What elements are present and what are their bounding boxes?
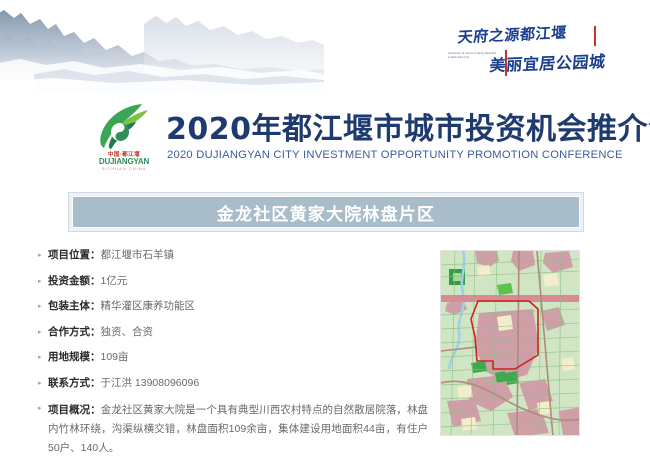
detail-row-packaging-entity: ▸ 包装主体：精华灌区康养功能区	[38, 299, 428, 314]
triangle-bullet-icon: ▸	[38, 376, 48, 387]
triangle-bullet-icon: ▸	[38, 299, 48, 310]
detail-row-land-scale: ▸ 用地规模：109亩	[38, 350, 428, 365]
detail-body: 合作方式：独资、合资	[48, 325, 428, 340]
slide-root: 天府之源都江堰 Hometown of nature of family Bea…	[0, 0, 650, 460]
slogan-red-rule-top	[594, 26, 596, 46]
detail-label: 投资金额：	[48, 275, 101, 287]
detail-label: 联系方式：	[48, 377, 101, 389]
project-details-list: ▸ 项目位置：都江堰市石羊镇 ▸ 投资金额：1亿元 ▸ 包装主体：精华灌区康养功…	[38, 248, 428, 458]
detail-label: 用地规模：	[48, 351, 101, 363]
detail-row-investment: ▸ 投资金额：1亿元	[38, 274, 428, 289]
project-name-text: 金龙社区黄家大院林盘片区	[217, 200, 435, 225]
project-name-banner: 金龙社区黄家大院林盘片区	[68, 192, 584, 232]
detail-label: 项目位置：	[48, 249, 101, 261]
logo-english-subtext: SICHUAN CHINA	[88, 166, 160, 171]
project-site-map[interactable]	[440, 250, 580, 436]
triangle-bullet-icon: ▸	[38, 248, 48, 259]
project-name-banner-inner: 金龙社区黄家大院林盘片区	[72, 196, 580, 228]
slogan-line-1: 天府之源都江堰	[457, 22, 568, 48]
ink-mountain-illustration	[0, 2, 324, 92]
logo-english-text: DUJIANGYAN	[88, 157, 160, 166]
dujiangyan-logo: 中国·都江堰 DUJIANGYAN SICHUAN CHINA	[88, 102, 160, 174]
detail-row-cooperation-mode: ▸ 合作方式：独资、合资	[38, 325, 428, 340]
detail-row-location: ▸ 项目位置：都江堰市石羊镇	[38, 248, 428, 263]
detail-label: 合作方式：	[48, 326, 101, 338]
detail-value: 于江洪 13908096096	[101, 377, 200, 389]
detail-body: 项目位置：都江堰市石羊镇	[48, 248, 428, 263]
triangle-bullet-icon: ▸	[38, 401, 48, 412]
detail-body: 包装主体：精华灌区康养功能区	[48, 299, 428, 314]
detail-body: 用地规模：109亩	[48, 350, 428, 365]
slogan-line-2: 美丽宜居公园城	[489, 48, 607, 76]
detail-value: 金龙社区黄家大院是一个具有典型川西农村特点的自然散居院落，林盘内竹林环绕，沟渠纵…	[48, 404, 428, 454]
detail-label: 包装主体：	[48, 300, 101, 312]
triangle-bullet-icon: ▸	[38, 325, 48, 336]
detail-value: 109亩	[101, 351, 129, 363]
site-map-graphic	[441, 251, 580, 436]
detail-value: 都江堰市石羊镇	[101, 249, 175, 261]
page-title: 2020年都江堰市城市投资机会推介会	[166, 104, 650, 148]
detail-value: 1亿元	[101, 275, 128, 287]
city-slogan-calligraphy: 天府之源都江堰 Hometown of nature of family Bea…	[448, 24, 618, 78]
detail-body: 投资金额：1亿元	[48, 274, 428, 289]
detail-label: 项目概况：	[48, 404, 101, 416]
logo-leaf-icon	[94, 102, 154, 150]
detail-row-contact: ▸ 联系方式：于江洪 13908096096	[38, 376, 428, 391]
page-subtitle-english: 2020 DUJIANGYAN CITY INVESTMENT OPPORTUN…	[167, 149, 623, 161]
detail-value: 精华灌区康养功能区	[101, 300, 196, 312]
triangle-bullet-icon: ▸	[38, 274, 48, 285]
detail-body: 联系方式：于江洪 13908096096	[48, 376, 428, 391]
detail-body: 项目概况：金龙社区黄家大院是一个具有典型川西农村特点的自然散居院落，林盘内竹林环…	[48, 401, 428, 458]
triangle-bullet-icon: ▸	[38, 350, 48, 361]
conference-title-block: 中国·都江堰 DUJIANGYAN SICHUAN CHINA 2020年都江堰…	[88, 102, 588, 174]
detail-row-overview: ▸ 项目概况：金龙社区黄家大院是一个具有典型川西农村特点的自然散居院落，林盘内竹…	[38, 401, 428, 458]
detail-value: 独资、合资	[101, 326, 154, 338]
